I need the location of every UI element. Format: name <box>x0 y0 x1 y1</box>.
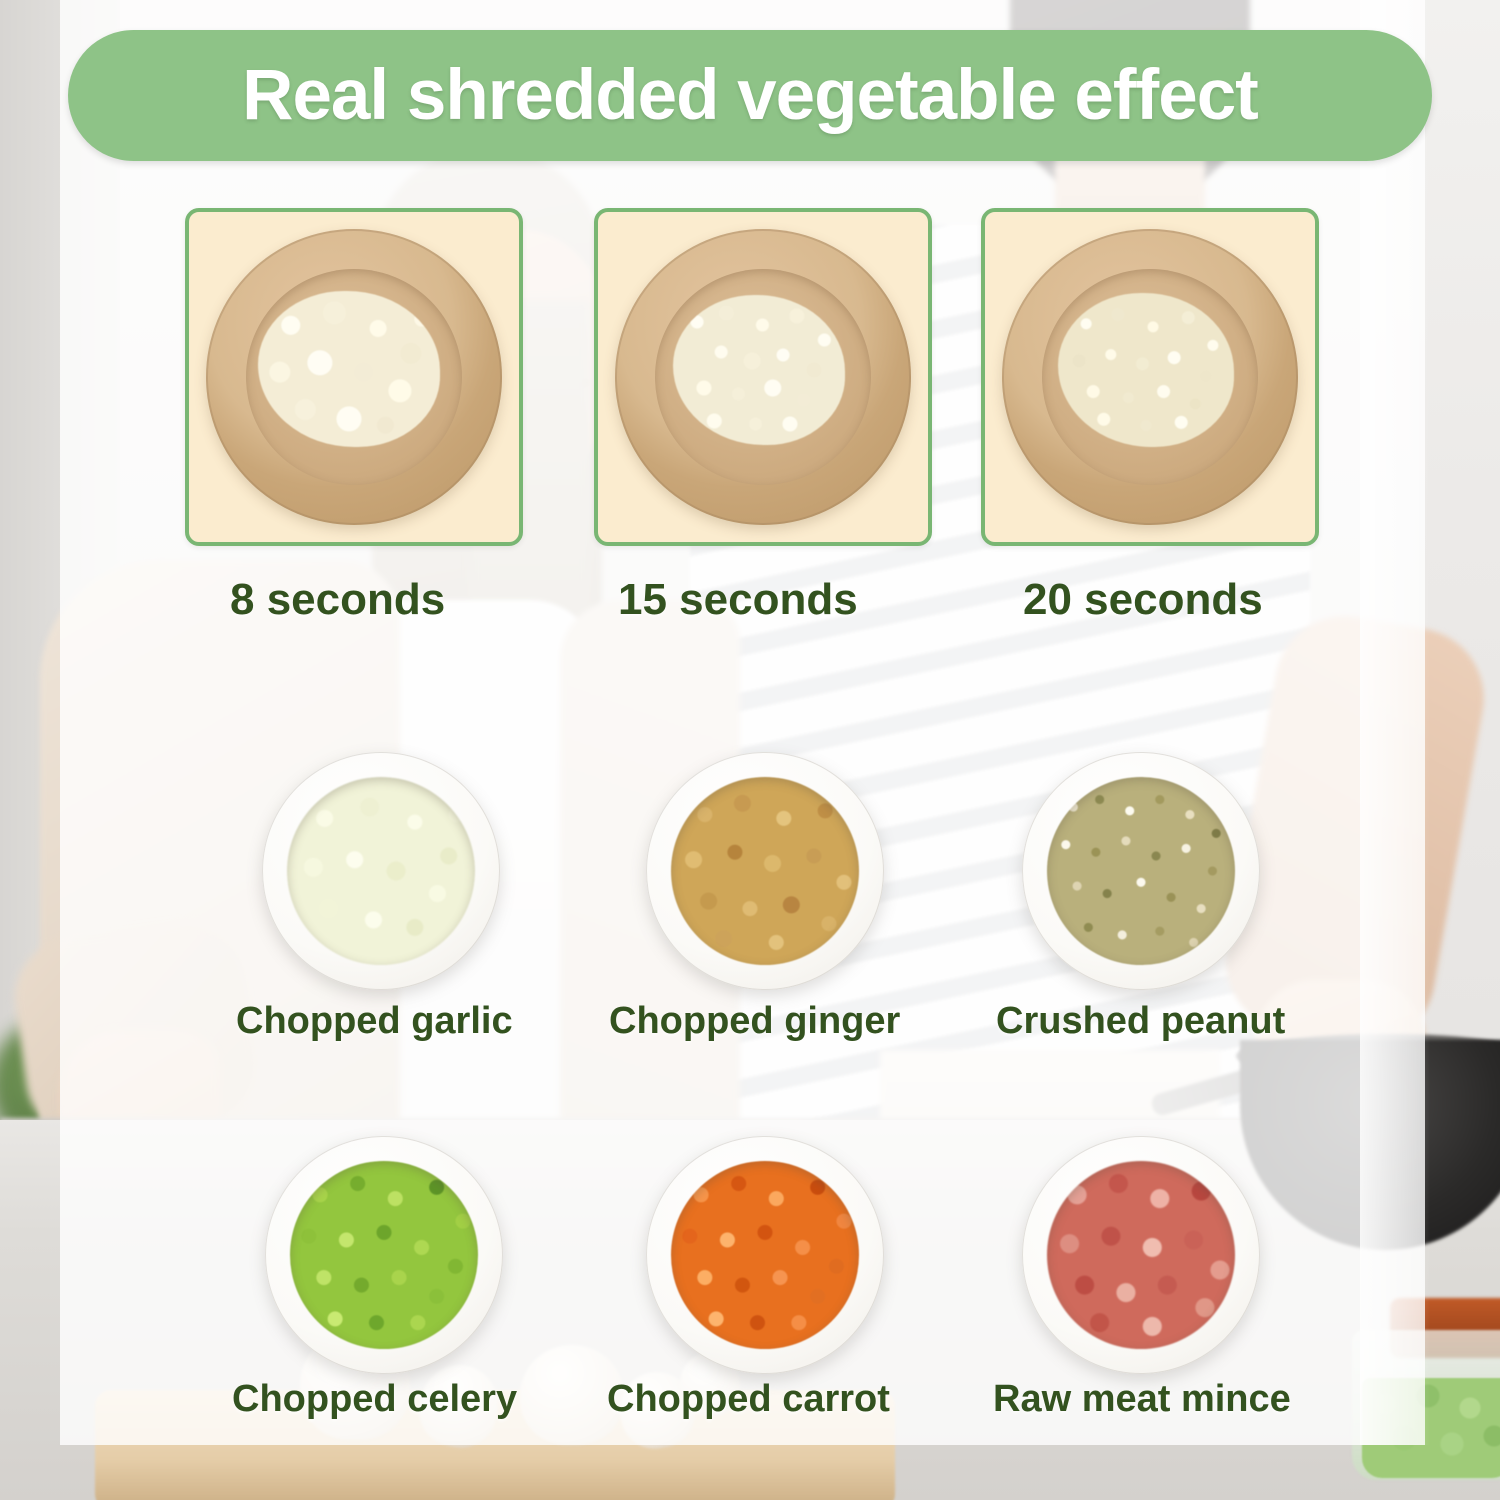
header-banner: Real shredded vegetable effect <box>68 30 1432 161</box>
caption-raw-meat-mince: Raw meat mince <box>993 1378 1291 1421</box>
chopped-garlic-contents <box>287 777 475 965</box>
caption-20-seconds: 20 seconds <box>1023 575 1263 625</box>
caption-8-seconds: 8 seconds <box>230 575 445 625</box>
caption-crushed-peanut: Crushed peanut <box>996 1000 1285 1043</box>
product-infographic: Real shredded vegetable effect 8 seconds… <box>0 0 1500 1500</box>
bowl-raw-meat-mince[interactable] <box>1022 1136 1260 1374</box>
wooden-plate <box>1002 229 1298 525</box>
minced-garlic-fine <box>1058 293 1234 447</box>
chopped-ginger-contents <box>671 777 859 965</box>
page-title: Real shredded vegetable effect <box>68 30 1432 161</box>
caption-chopped-ginger: Chopped ginger <box>609 1000 900 1043</box>
bowl-chopped-celery[interactable] <box>265 1136 503 1374</box>
plate-well <box>246 269 462 485</box>
caption-chopped-carrot: Chopped carrot <box>607 1378 890 1421</box>
caption-chopped-celery: Chopped celery <box>232 1378 517 1421</box>
wooden-plate <box>615 229 911 525</box>
bowl-crushed-peanut[interactable] <box>1022 752 1260 990</box>
chopped-garlic-coarse <box>258 291 440 447</box>
caption-chopped-garlic: Chopped garlic <box>236 1000 513 1043</box>
plate-well <box>1042 269 1258 485</box>
raw-meat-mince-contents <box>1047 1161 1235 1349</box>
overlay-right-fade <box>1360 0 1430 1445</box>
caption-15-seconds: 15 seconds <box>618 575 858 625</box>
food-captions-row-2: Chopped celery Chopped carrot Raw meat m… <box>0 1378 1500 1438</box>
bowl-chopped-ginger[interactable] <box>646 752 884 990</box>
food-captions-row-1: Chopped garlic Chopped ginger Crushed pe… <box>0 1000 1500 1060</box>
bowl-chopped-garlic[interactable] <box>262 752 500 990</box>
timing-card-20s[interactable] <box>981 208 1319 546</box>
wooden-plate <box>206 229 502 525</box>
chopped-carrot-contents <box>671 1161 859 1349</box>
plate-well <box>655 269 871 485</box>
timing-card-15s[interactable] <box>594 208 932 546</box>
bowl-chopped-carrot[interactable] <box>646 1136 884 1374</box>
timing-captions: 8 seconds 15 seconds 20 seconds <box>0 575 1500 635</box>
crushed-peanut-contents <box>1047 777 1235 965</box>
chopped-celery-contents <box>290 1161 478 1349</box>
chopped-garlic-medium <box>673 295 845 445</box>
timing-card-8s[interactable] <box>185 208 523 546</box>
